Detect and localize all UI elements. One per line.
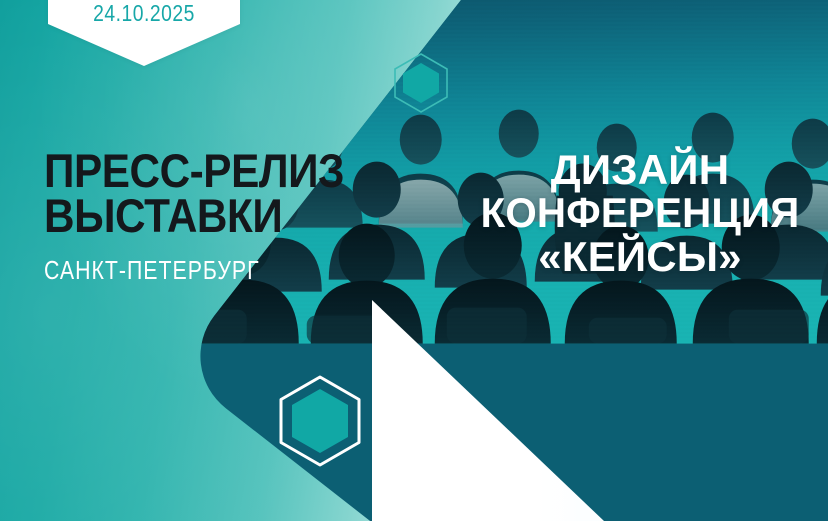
hexagon-large-icon bbox=[276, 374, 364, 468]
right-line-2: КОНФЕРЕНЦИЯ bbox=[460, 191, 821, 234]
right-line-3: «КЕЙСЫ» bbox=[452, 235, 828, 278]
hexagon-small-icon bbox=[392, 52, 450, 114]
date-badge: 24.10.2025 bbox=[48, 0, 240, 66]
right-line-1: ДИЗАЙН bbox=[452, 148, 828, 191]
headline-line-2: ВЫСТАВКИ bbox=[44, 193, 341, 238]
press-release-banner: 24.10.2025 ПРЕСС-РЕЛИЗ ВЫСТАВКИ САНКТ-ПЕ… bbox=[0, 0, 828, 521]
left-text-block: ПРЕСС-РЕЛИЗ ВЫСТАВКИ САНКТ-ПЕТЕРБУРГ bbox=[44, 148, 374, 286]
headline-line-1: ПРЕСС-РЕЛИЗ bbox=[44, 148, 341, 193]
right-text-block: ДИЗАЙН КОНФЕРЕНЦИЯ «КЕЙСЫ» bbox=[452, 148, 828, 278]
city-subtitle: САНКТ-ПЕТЕРБУРГ bbox=[44, 255, 315, 286]
date-text: 24.10.2025 bbox=[63, 0, 224, 27]
